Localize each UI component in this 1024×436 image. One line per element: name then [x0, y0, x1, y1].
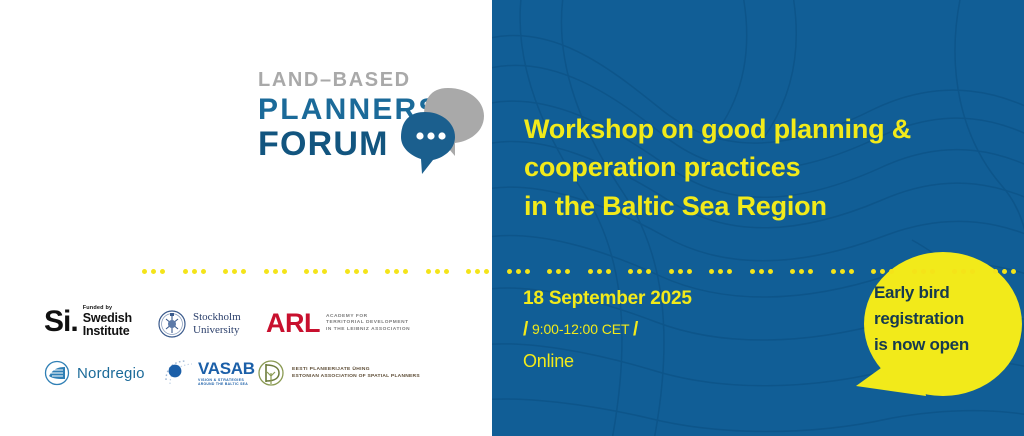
divider-dot: [394, 269, 399, 274]
divider-dot: [768, 269, 773, 274]
partner-logo-vasab: VASAB VISION & STRATEGIES AROUND THE BAL…: [162, 358, 255, 388]
divider-dot: [223, 269, 228, 274]
divider-dot: [183, 269, 188, 274]
headline-line-3: in the Baltic Sea Region: [524, 187, 974, 225]
event-promo-banner: LAND–BASED PLANNERS' FORUM Si. Funded by…: [0, 0, 1024, 436]
divider-dot: [363, 269, 368, 274]
logo-wordmark: LAND–BASED PLANNERS' FORUM: [258, 70, 418, 161]
dot-group: [750, 269, 776, 274]
epy-line-english: ESTONIAN ASSOCIATION OF SPATIAL PLANNERS: [292, 373, 420, 380]
divider-dot: [345, 269, 350, 274]
right-blue-panel: Workshop on good planning & cooperation …: [492, 0, 1024, 436]
speech-bubbles-icon: [398, 84, 486, 176]
partner-logo-swedish-institute: Si. Funded by Swedish Institute: [44, 306, 132, 338]
epy-line-estonian: EESTI PLANEERIJATE ÜHING: [292, 366, 420, 373]
logo-line-land-based: LAND–BASED: [258, 70, 418, 90]
partner-logo-nordregio: Nordregio: [44, 360, 145, 386]
early-bird-text: Early bird registration is now open: [874, 280, 1024, 357]
dot-group: [426, 269, 452, 274]
nordregio-circle-icon: [44, 360, 70, 386]
dot-group: [507, 269, 533, 274]
logo-line-forum: FORUM: [258, 127, 418, 162]
vasab-label: VASAB: [198, 360, 255, 377]
dot-group: [669, 269, 695, 274]
event-mode: Online: [523, 350, 853, 373]
divider-dot: [790, 269, 795, 274]
dot-group: [223, 269, 249, 274]
arl-line-3: IN THE LEIBNIZ ASSOCIATION: [326, 327, 410, 333]
divider-dot: [993, 269, 998, 274]
event-time: 9:00-12:00 CET: [532, 321, 629, 337]
headline-line-1: Workshop on good planning &: [524, 110, 974, 148]
divider-dot: [475, 269, 480, 274]
divider-dot: [606, 269, 611, 274]
divider-dot: [565, 269, 570, 274]
dot-group: [912, 269, 938, 274]
divider-dot: [849, 269, 854, 274]
divider-dot: [556, 269, 561, 274]
bubble-line-1: Early bird: [874, 280, 1024, 306]
divider-dot: [142, 269, 147, 274]
vasab-dot-icon: [162, 358, 196, 388]
divider-dot: [889, 269, 894, 274]
divider-dot: [597, 269, 602, 274]
epy-text: EESTI PLANEERIJATE ÜHING ESTONIAN ASSOCI…: [292, 366, 420, 381]
divider-dot: [831, 269, 836, 274]
divider-dot: [970, 269, 975, 274]
time-slash-left: /: [523, 319, 528, 340]
si-monogram: Si.: [44, 307, 78, 337]
arl-monogram: ARL: [266, 310, 320, 337]
headline: Workshop on good planning & cooperation …: [524, 110, 974, 225]
dot-group: [831, 269, 857, 274]
dot-group: [385, 269, 411, 274]
divider-dot: [160, 269, 165, 274]
divider-dot: [646, 269, 651, 274]
divider-dot: [727, 269, 732, 274]
divider-dot: [628, 269, 633, 274]
divider-dot: [669, 269, 674, 274]
divider-dot: [1011, 269, 1016, 274]
divider-dot: [385, 269, 390, 274]
dot-group: [993, 269, 1019, 274]
divider-dot: [282, 269, 287, 274]
dot-group: [628, 269, 654, 274]
divider-dot: [313, 269, 318, 274]
divider-dot: [637, 269, 642, 274]
divider-dot: [484, 269, 489, 274]
dot-group: [547, 269, 573, 274]
divider-dot: [151, 269, 156, 274]
divider-dot: [921, 269, 926, 274]
university-crest-icon: [157, 308, 187, 340]
dot-group: [588, 269, 614, 274]
divider-dot: [759, 269, 764, 274]
divider-dot: [687, 269, 692, 274]
left-white-panel: LAND–BASED PLANNERS' FORUM Si. Funded by…: [0, 0, 492, 436]
divider-dot: [961, 269, 966, 274]
divider-dot: [912, 269, 917, 274]
divider-dot: [709, 269, 714, 274]
partner-logo-stockholm-university: Stockholm University: [157, 308, 241, 340]
dotted-divider: [0, 269, 1024, 277]
divider-dot: [871, 269, 876, 274]
divider-dot: [264, 269, 269, 274]
divider-dot: [273, 269, 278, 274]
si-swedish: Swedish: [83, 312, 132, 325]
divider-dot: [808, 269, 813, 274]
partner-logo-estonian-planners: EESTI PLANEERIJATE ÜHING ESTONIAN ASSOCI…: [256, 358, 420, 388]
dot-group: [304, 269, 330, 274]
arl-line-2: TERRITORIAL DEVELOPMENT: [326, 320, 410, 326]
divider-dot: [880, 269, 885, 274]
divider-dot: [403, 269, 408, 274]
divider-dot: [678, 269, 683, 274]
dot-group: [790, 269, 816, 274]
epy-monogram-icon: [256, 358, 286, 388]
event-date: 18 September 2025: [523, 288, 853, 311]
divider-dot: [444, 269, 449, 274]
bubble-line-3: is now open: [874, 332, 1024, 358]
si-institute: Institute: [83, 325, 132, 338]
su-line-university: University: [193, 324, 241, 337]
su-line-stockholm: Stockholm: [193, 311, 241, 324]
dot-group: [142, 269, 168, 274]
partner-logos: Si. Funded by Swedish Institute Stockh: [44, 300, 464, 400]
divider-dot: [718, 269, 723, 274]
divider-dot: [232, 269, 237, 274]
partner-logo-arl: ARL ACADEMY FOR TERRITORIAL DEVELOPMENT …: [266, 310, 410, 337]
dot-group: [264, 269, 290, 274]
time-slash-right: /: [633, 319, 638, 340]
land-based-planners-forum-logo: LAND–BASED PLANNERS' FORUM: [258, 70, 483, 180]
divider-dot: [241, 269, 246, 274]
vasab-sub-2: AROUND THE BALTIC SEA: [198, 383, 255, 386]
divider-dot: [304, 269, 309, 274]
divider-dot: [322, 269, 327, 274]
divider-dot: [930, 269, 935, 274]
bubble-line-2: registration: [874, 306, 1024, 332]
divider-dot: [354, 269, 359, 274]
event-details: 18 September 2025 / 9:00-12:00 CET / Onl…: [523, 288, 853, 374]
divider-dot: [1002, 269, 1007, 274]
logo-line-planners: PLANNERS': [258, 94, 418, 126]
dot-group: [466, 269, 492, 274]
divider-dot: [516, 269, 521, 274]
dot-group: [183, 269, 209, 274]
divider-dot: [588, 269, 593, 274]
dot-group: [709, 269, 735, 274]
divider-dot: [507, 269, 512, 274]
dot-group: [871, 269, 897, 274]
stockholm-university-text: Stockholm University: [193, 311, 241, 336]
divider-dot: [952, 269, 957, 274]
event-time-row: / 9:00-12:00 CET /: [523, 315, 853, 345]
divider-dot: [750, 269, 755, 274]
divider-dot: [426, 269, 431, 274]
dot-group: [952, 269, 978, 274]
divider-dot: [525, 269, 530, 274]
headline-line-2: cooperation practices: [524, 148, 974, 186]
vasab-text: VASAB VISION & STRATEGIES AROUND THE BAL…: [198, 360, 255, 387]
dot-group: [345, 269, 371, 274]
divider-dot: [435, 269, 440, 274]
divider-dot: [201, 269, 206, 274]
divider-dot: [840, 269, 845, 274]
si-text: Funded by Swedish Institute: [83, 306, 132, 338]
divider-dot: [547, 269, 552, 274]
arl-text: ACADEMY FOR TERRITORIAL DEVELOPMENT IN T…: [326, 314, 410, 333]
divider-dot: [192, 269, 197, 274]
nordregio-label: Nordregio: [77, 365, 145, 382]
divider-dot: [799, 269, 804, 274]
divider-dot: [466, 269, 471, 274]
